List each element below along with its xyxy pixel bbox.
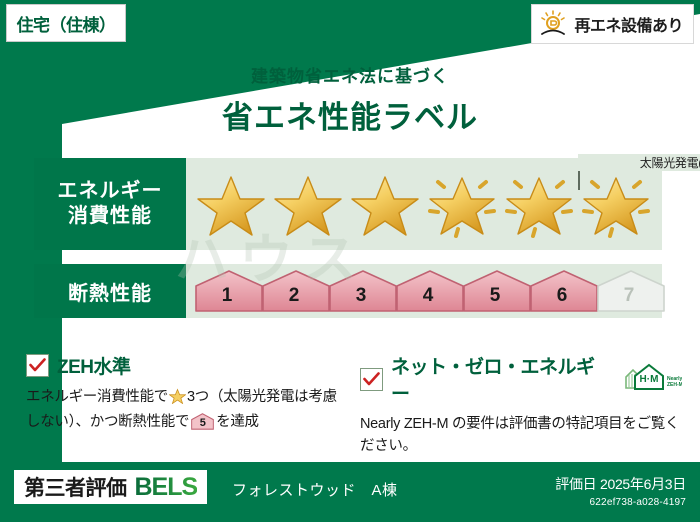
insulation-grade-2: 2 <box>261 269 327 313</box>
solar-caption: 太陽光発電(自家消費)分 <box>578 154 700 171</box>
insulation-label-text: 断熱性能 <box>68 277 152 306</box>
renewable-badge-label: 再エネ設備あり <box>574 12 683 36</box>
check-net-zero-energy: ネット・ゼロ・エネルギー H·M Nearly ZEH-M <box>360 352 682 458</box>
star-1 <box>192 158 269 250</box>
star-rating-group <box>186 158 662 250</box>
evaluation-id: 622ef738-a028-4197 <box>555 497 686 508</box>
check-net-zero-energy-title: ネット・ゼロ・エネルギー <box>391 352 608 406</box>
title-subtitle: 建築物省エネ法に基づく <box>0 62 700 87</box>
sun-icon <box>538 10 568 38</box>
insulation-performance-label: 断熱性能 <box>34 264 186 318</box>
insulation-grade-3-value: 3 <box>356 285 367 307</box>
insulation-grade-7: 7 <box>596 269 662 313</box>
zeh-desc-part3: を達成 <box>216 414 259 430</box>
insulation-grade-5: 5 <box>462 269 528 313</box>
insulation-grade-inline-icon: 5 <box>191 413 214 430</box>
svg-text:H·M: H·M <box>640 374 659 385</box>
insulation-grade-6-value: 6 <box>557 285 568 307</box>
insulation-grade-3: 3 <box>328 269 394 313</box>
checkbox-checked-icon <box>26 354 49 377</box>
building-name: フォレストウッド A棟 <box>232 479 398 500</box>
bels-en-label: BELS <box>135 473 198 502</box>
star-4-solar <box>423 158 500 250</box>
insulation-performance-row: 断熱性能 1 <box>34 264 662 318</box>
zeh-desc-part1: エネルギー消費性能で <box>26 389 168 405</box>
star-3 <box>346 158 423 250</box>
title-main: 省エネ性能ラベル <box>0 92 700 137</box>
energy-label-line1: エネルギー <box>58 179 163 204</box>
star-5-solar <box>500 158 577 250</box>
star-6-solar <box>577 158 654 250</box>
check-zeh-standard-description: エネルギー消費性能で3つ（太陽光発電は考慮しない）、かつ断熱性能で5を達成 <box>26 386 344 434</box>
svg-text:ZEH-M: ZEH-M <box>667 382 682 388</box>
zeh-m-house-icon: H·M Nearly ZEH-M <box>620 363 682 396</box>
insulation-grade-2-value: 2 <box>289 285 300 307</box>
energy-performance-label: エネルギー 消費性能 <box>34 158 186 250</box>
check-net-zero-energy-header: ネット・ゼロ・エネルギー H·M Nearly ZEH-M <box>360 352 682 406</box>
insulation-grade-track: 1 2 3 <box>186 264 662 318</box>
checkbox-checked-icon <box>360 368 383 391</box>
star-2 <box>269 158 346 250</box>
bels-certification-plate: 第三者評価 BELS <box>14 470 207 504</box>
check-zeh-standard-header: ZEH水準 <box>26 352 344 379</box>
energy-label-line2: 消費性能 <box>68 204 152 229</box>
energy-performance-row: エネルギー 消費性能 太陽光発電(自家消費)分 <box>34 158 662 250</box>
insulation-grade-7-value: 7 <box>624 285 635 307</box>
insulation-grade-1: 1 <box>194 269 260 313</box>
check-net-zero-energy-description: Nearly ZEH-M の要件は評価書の特記項目をご覧ください。 <box>360 413 682 458</box>
insulation-grade-6: 6 <box>529 269 595 313</box>
label-title-block: 建築物省エネ法に基づく 省エネ性能ラベル <box>0 62 700 137</box>
zeh-desc-grade-value: 5 <box>191 415 214 432</box>
insulation-grade-4: 4 <box>395 269 461 313</box>
energy-star-track: 太陽光発電(自家消費)分 <box>186 158 662 250</box>
insulation-grade-4-value: 4 <box>423 285 434 307</box>
insulation-grade-5-value: 5 <box>490 285 501 307</box>
star-icon-inline <box>169 392 186 408</box>
category-tag: 住宅（住棟） <box>6 4 126 42</box>
renewable-equipment-badge: 再エネ設備あり <box>531 4 694 44</box>
footer-bar: 第三者評価 BELS フォレストウッド A棟 評価日 2025年6月3日 622… <box>0 462 700 522</box>
evaluation-date: 評価日 2025年6月3日 <box>555 474 686 494</box>
check-zeh-standard: ZEH水準 エネルギー消費性能で3つ（太陽光発電は考慮しない）、かつ断熱性能で5… <box>26 352 344 434</box>
insulation-grade-group: 1 2 3 <box>186 264 662 318</box>
bels-energy-label: 住宅（住棟） 再エネ設備あり 建築物省エネ法に基づく 省エネ性能 <box>0 0 700 522</box>
bels-jp-label: 第三者評価 <box>24 472 127 502</box>
evaluation-info: 評価日 2025年6月3日 622ef738-a028-4197 <box>555 474 686 508</box>
check-zeh-standard-title: ZEH水準 <box>57 352 131 379</box>
category-tag-label: 住宅（住棟） <box>17 11 116 36</box>
insulation-grade-1-value: 1 <box>222 285 233 307</box>
